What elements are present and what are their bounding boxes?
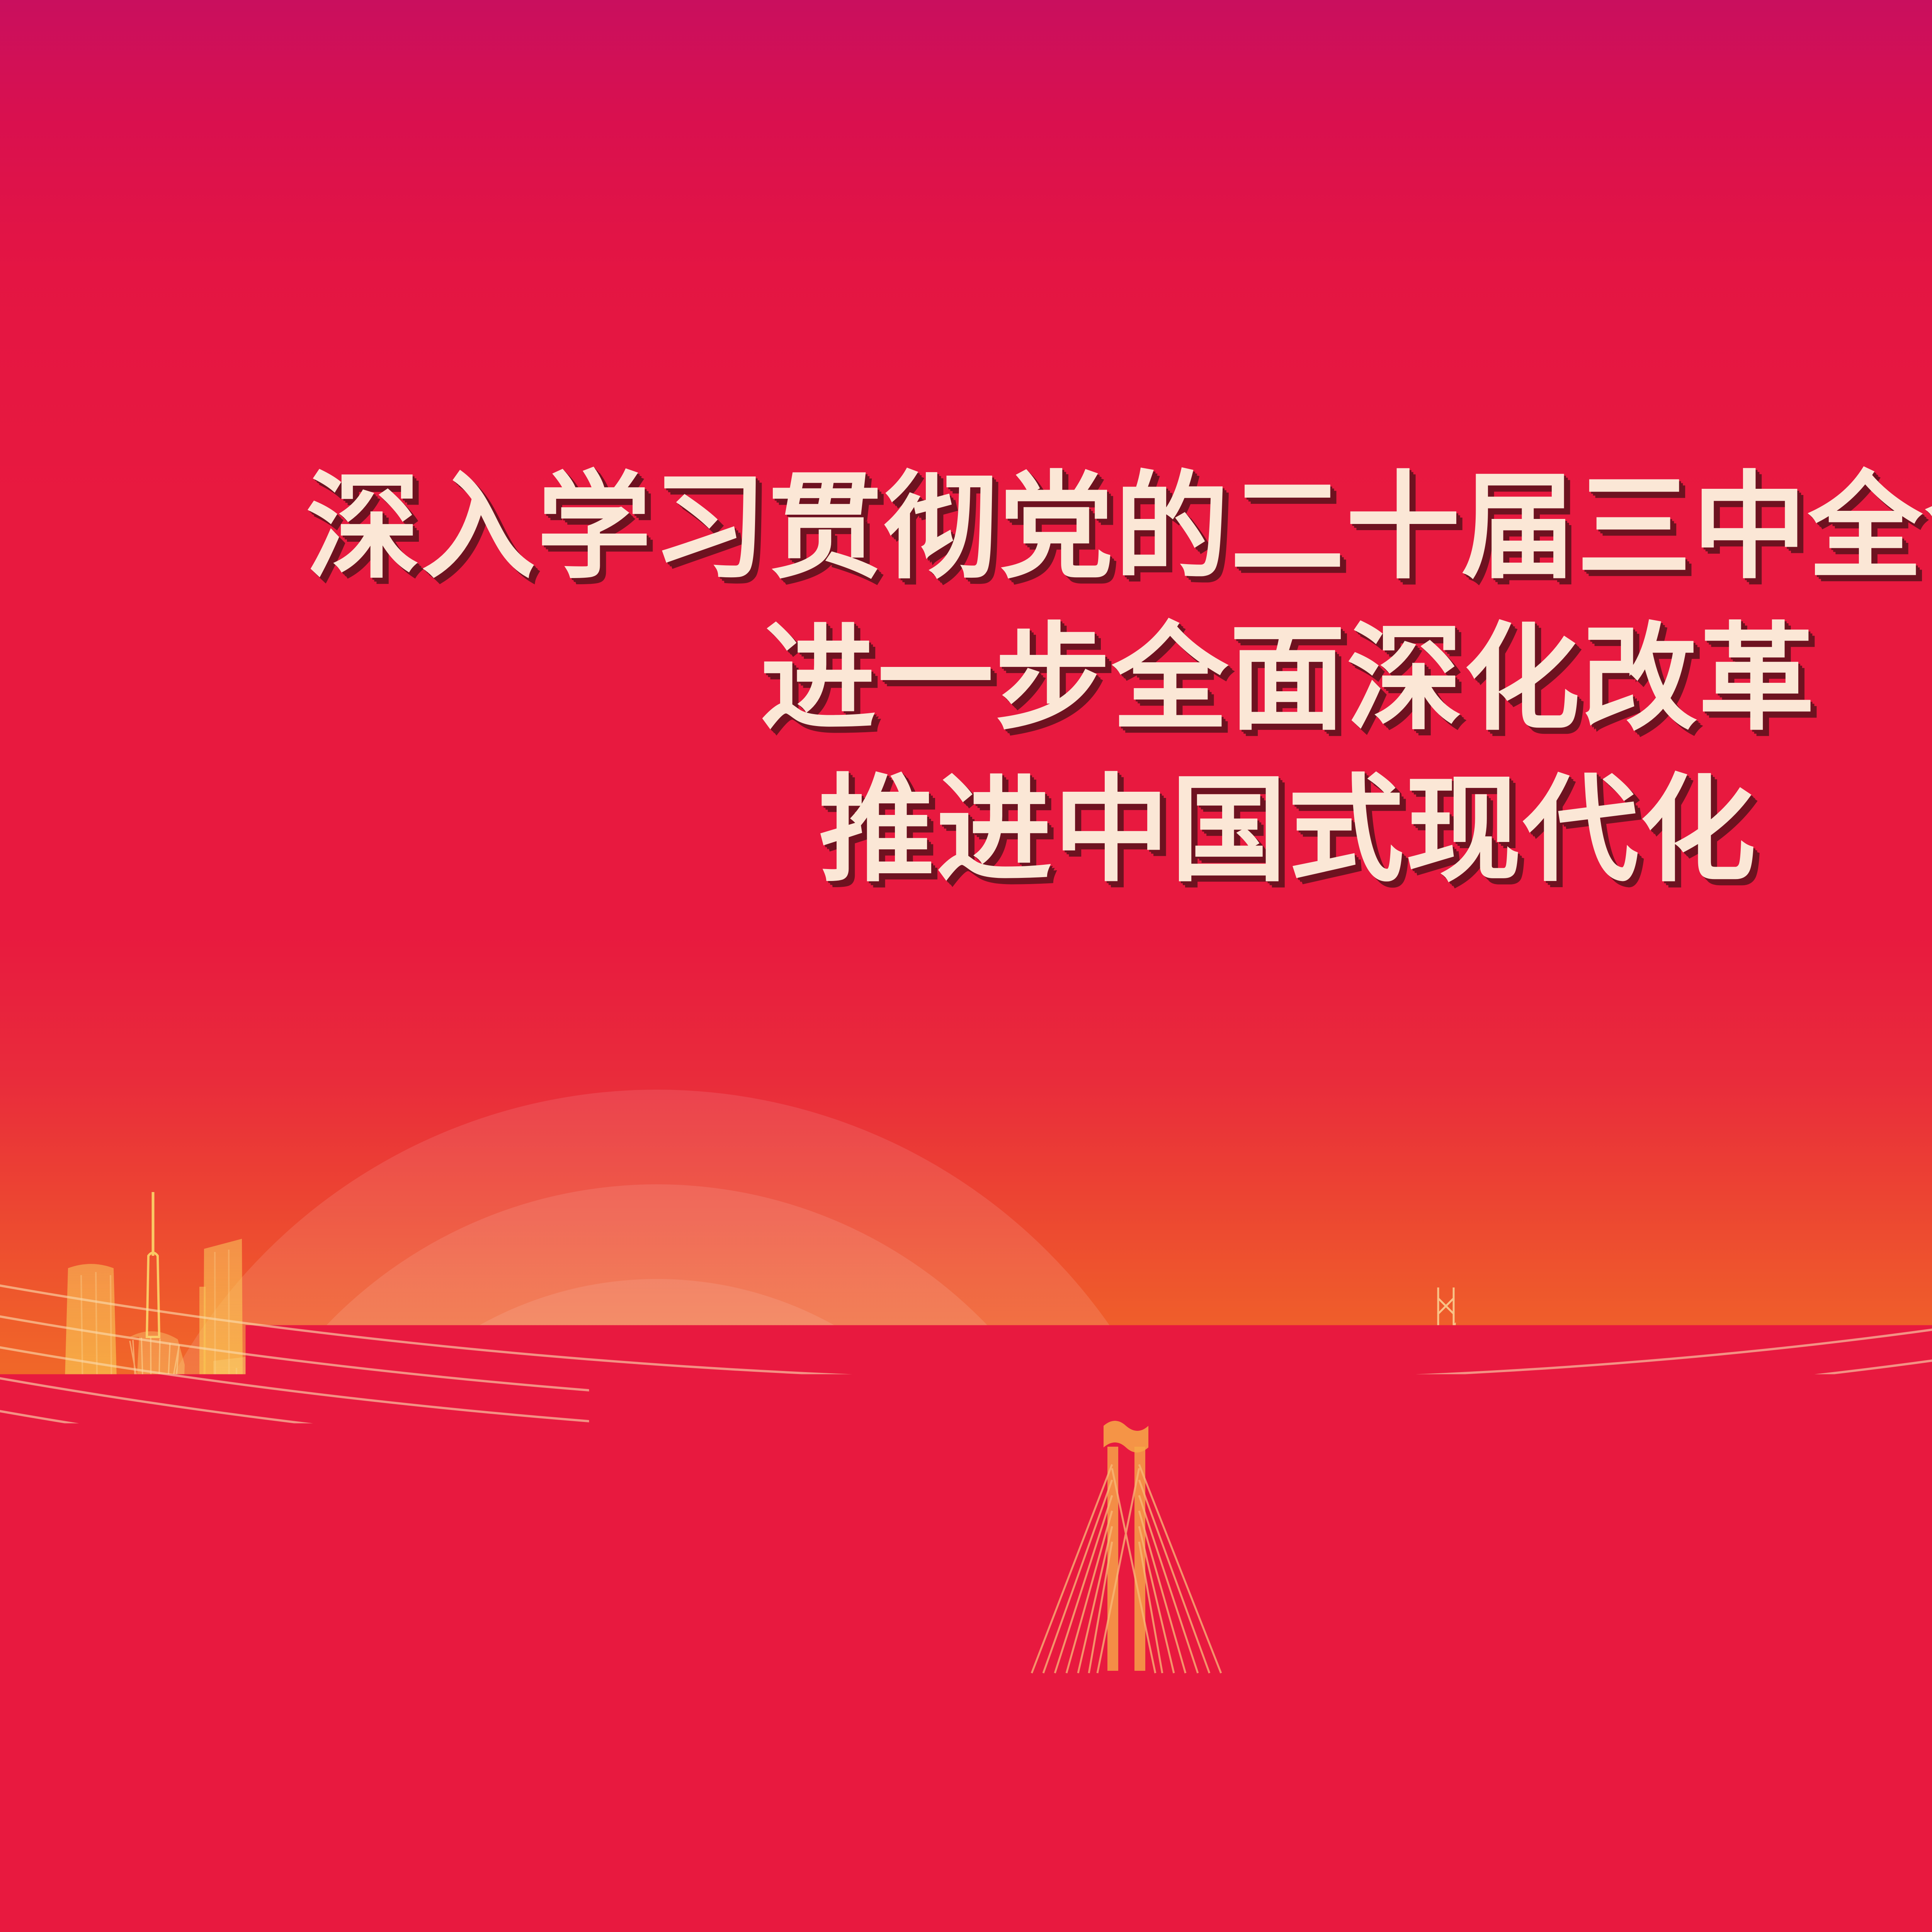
headline-line-2: 进一步全面深化改革 (0, 621, 1932, 737)
headline-line-3: 推进中国式现代化 (0, 772, 1932, 888)
headline-block: 深入学习贯彻党的二十届三中全会精神 进一步全面深化改革 推进中国式现代化 (0, 469, 1932, 888)
poster-canvas: 深入学习贯彻党的二十届三中全会精神 进一步全面深化改革 推进中国式现代化 (0, 0, 1932, 1932)
waves-layer (0, 0, 1932, 1932)
headline-line-1: 深入学习贯彻党的二十届三中全会精神 (19, 469, 1932, 585)
